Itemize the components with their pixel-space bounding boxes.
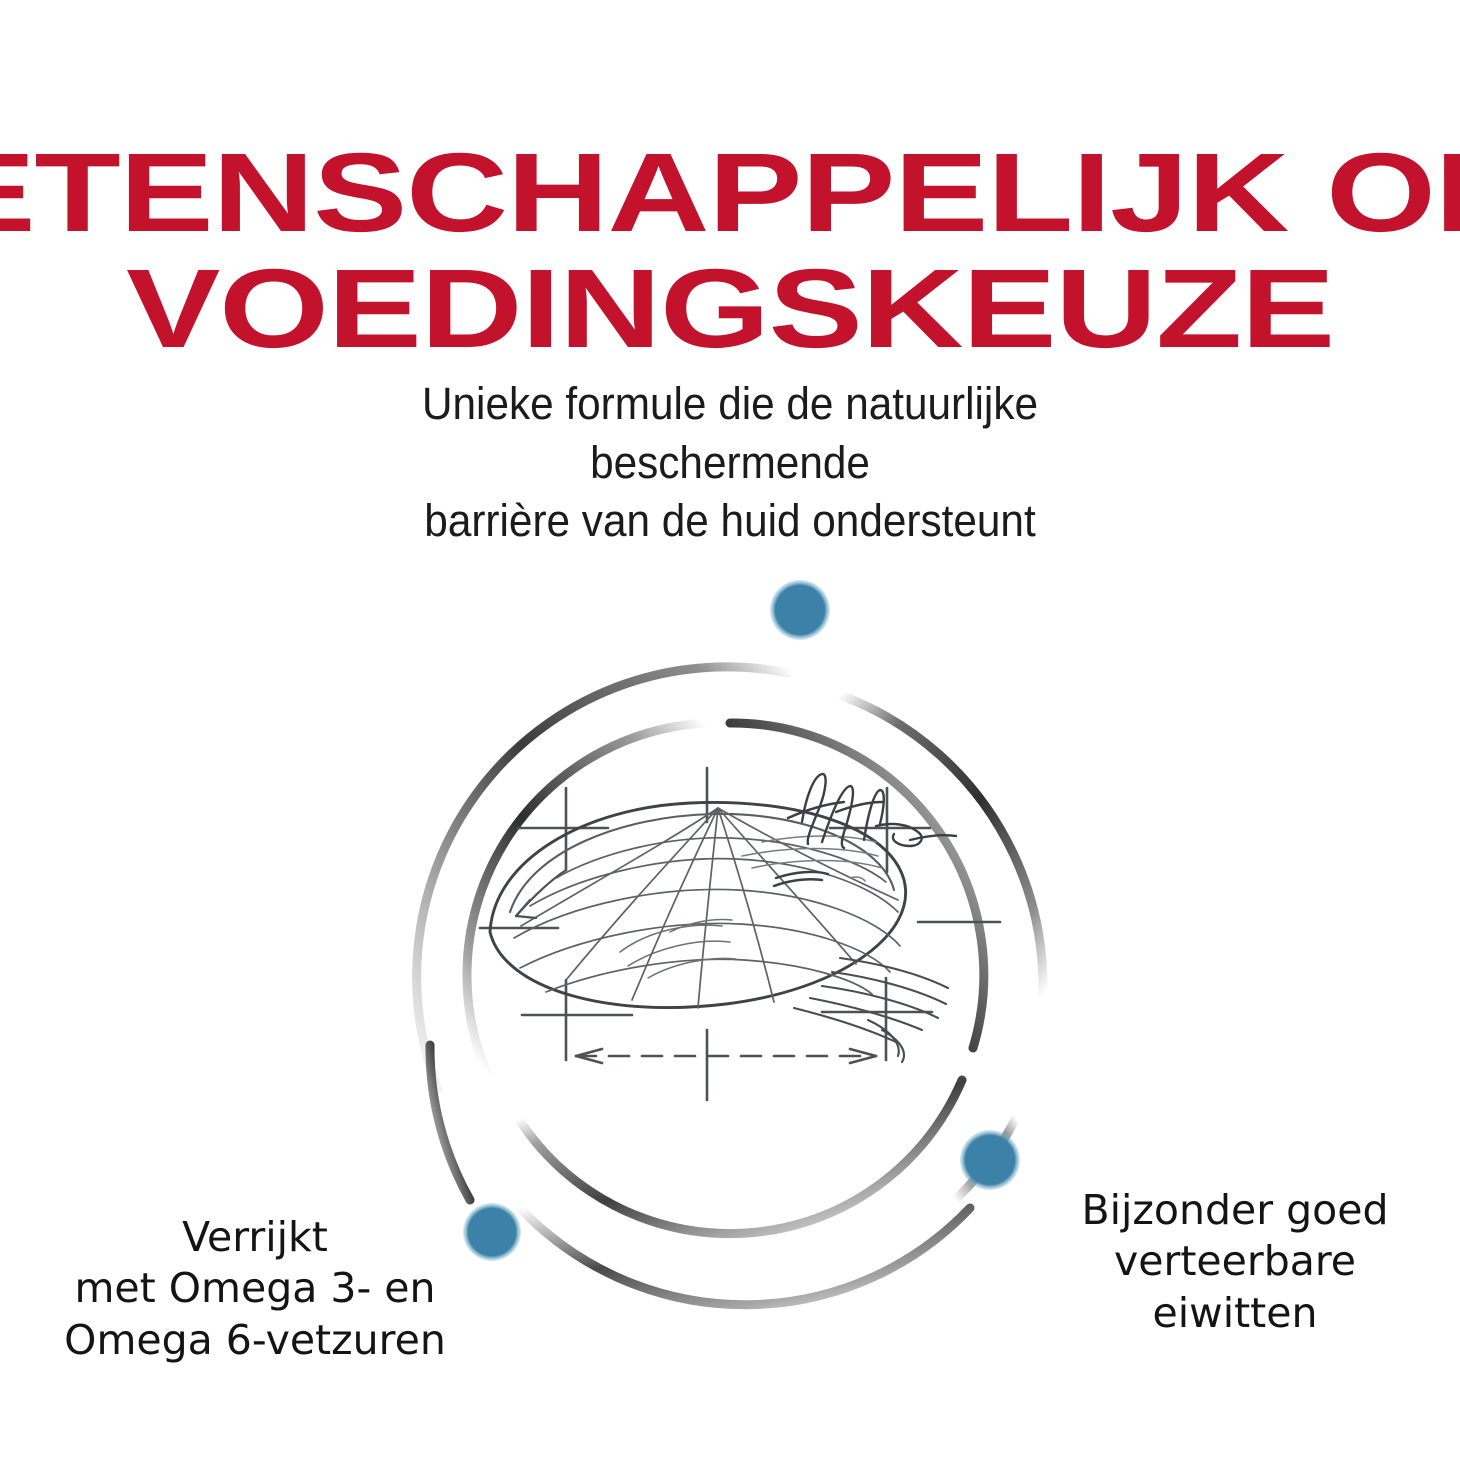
outer-ring — [417, 667, 1043, 1305]
outer-arc-bottom — [520, 1208, 970, 1305]
registration-marks — [480, 768, 1000, 1100]
headline-line-2: VOEDINGSKEUZE — [0, 254, 1460, 364]
caption-protein-line-1: Bijzonder goed — [1035, 1185, 1435, 1236]
kibble-hatch-shading — [794, 958, 948, 1062]
subtitle-line-3: barrière van de huid ondersteunt — [44, 492, 1416, 551]
caption-protein-line-3: eiwitten — [1035, 1288, 1435, 1339]
caption-omega-line-1: Verrijkt — [20, 1212, 490, 1263]
caption-omega: Verrijkt met Omega 3- en Omega 6-vetzure… — [20, 1212, 490, 1366]
dot-bottom-right — [960, 1130, 1020, 1190]
caption-omega-line-2: met Omega 3- en — [20, 1263, 490, 1314]
caption-omega-line-3: Omega 6-vetzuren — [20, 1315, 490, 1366]
subtitle-line-1: Unieke formule die de natuurlijke — [44, 375, 1416, 434]
kibble-technical-sketch — [480, 768, 1000, 1100]
outer-arc-left — [430, 1045, 470, 1200]
inner-arc-bottom — [498, 1080, 962, 1234]
inner-arc-top-left — [467, 723, 730, 1080]
dot-top — [770, 580, 830, 640]
infographic-page: WETENSCHAPPELIJK ONDERBOUWDE VOEDINGSKEU… — [0, 0, 1460, 1460]
dimension-line — [576, 1049, 876, 1063]
kibble-emblem-graphic — [370, 560, 1090, 1320]
subtitle: Unieke formule die de natuurlijke besche… — [0, 375, 1460, 551]
page-title: WETENSCHAPPELIJK ONDERBOUWDE VOEDINGSKEU… — [22, 138, 1438, 364]
caption-protein-line-2: verteerbare — [1035, 1236, 1435, 1287]
caption-protein: Bijzonder goed verteerbare eiwitten — [1035, 1185, 1435, 1339]
kibble-interior-shading — [620, 920, 736, 979]
inner-ring — [467, 723, 984, 1234]
headline-line-1: WETENSCHAPPELIJK ONDERBOUWDE — [0, 138, 1460, 248]
subtitle-line-2: beschermende — [44, 434, 1416, 493]
